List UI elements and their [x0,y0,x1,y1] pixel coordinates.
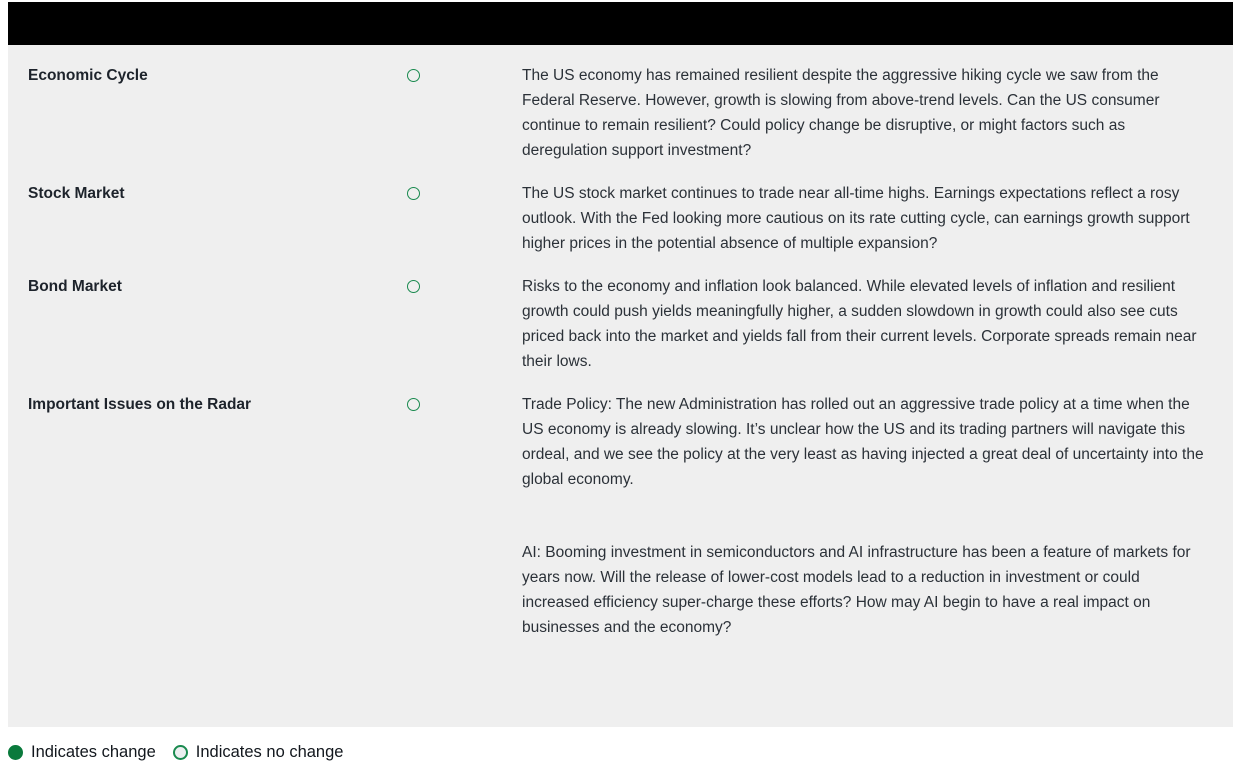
commentary-cell: Risks to the economy and inflation look … [522,256,1233,374]
outlook-panel: Economic CycleThe US economy has remaine… [8,2,1233,727]
commentary-paragraph: The US economy has remained resilient de… [522,63,1211,163]
circle-outline-icon [407,69,420,82]
commentary-paragraph: Trade Policy: The new Administration has… [522,392,1211,492]
legend: Indicates change Indicates no change [8,744,343,761]
panel-header [8,2,1233,45]
circle-outline-icon [407,398,420,411]
commentary-paragraph: The US stock market continues to trade n… [522,181,1211,256]
status-cell [388,45,522,82]
status-cell [388,163,522,200]
outlook-page: Economic CycleThe US economy has remaine… [0,0,1242,779]
commentary-paragraph: AI: Booming investment in semiconductors… [522,540,1211,640]
legend-label-change: Indicates change [31,744,156,761]
topic-label: Bond Market [28,256,388,298]
topic-row: Economic CycleThe US economy has remaine… [8,45,1233,163]
legend-label-no-change: Indicates no change [196,744,344,761]
circle-outline-icon [173,745,188,760]
topic-label: Economic Cycle [28,45,388,87]
circle-outline-icon [407,187,420,200]
topic-rows: Economic CycleThe US economy has remaine… [8,45,1233,640]
commentary-cell: The US stock market continues to trade n… [522,163,1233,256]
circle-outline-icon [407,280,420,293]
legend-item-change: Indicates change [8,744,156,761]
commentary-cell: Trade Policy: The new Administration has… [522,374,1233,640]
legend-item-no-change: Indicates no change [173,744,344,761]
commentary-cell: The US economy has remained resilient de… [522,45,1233,163]
status-cell [388,374,522,411]
topic-row: Bond MarketRisks to the economy and infl… [8,256,1233,374]
circle-filled-icon [8,745,23,760]
commentary-paragraph: Risks to the economy and inflation look … [522,274,1211,374]
topic-label: Important Issues on the Radar [28,374,388,416]
status-cell [388,256,522,293]
topic-row: Important Issues on the RadarTrade Polic… [8,374,1233,640]
topic-label: Stock Market [28,163,388,205]
topic-row: Stock MarketThe US stock market continue… [8,163,1233,256]
